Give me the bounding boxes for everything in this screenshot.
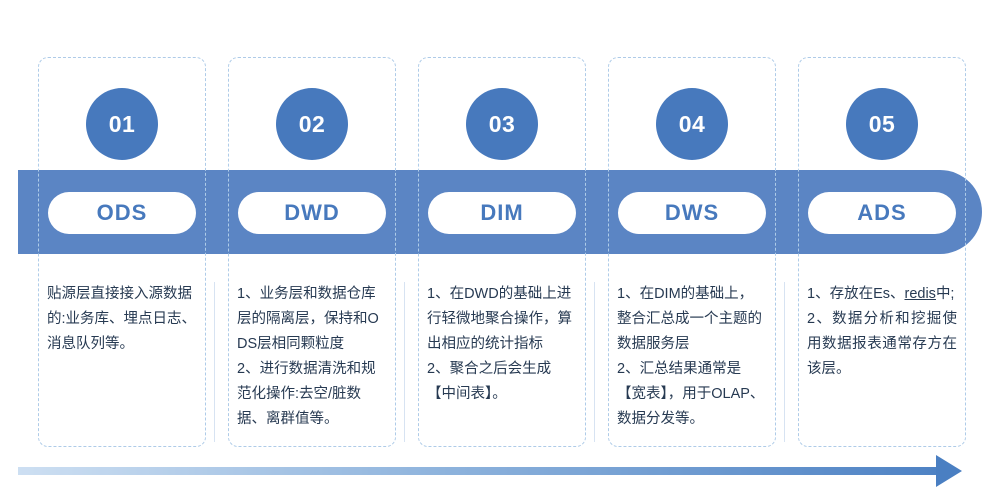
column-divider-2 xyxy=(404,282,405,442)
stage-number-5: 05 xyxy=(846,88,918,160)
flow-arrow-shaft xyxy=(18,467,938,475)
stage-label-dwd[interactable]: DWD xyxy=(238,192,386,234)
stage-label-dim[interactable]: DIM xyxy=(428,192,576,234)
stage-number-3: 03 xyxy=(466,88,538,160)
stage-description-1: 贴源层直接接入源数据的:业务库、埋点日志、消息队列等。 xyxy=(47,282,197,357)
stage-number-1: 01 xyxy=(86,88,158,160)
stage-label-dws[interactable]: DWS xyxy=(618,192,766,234)
column-divider-1 xyxy=(214,282,215,442)
stage-description-5-part-a: 1、存放在Es、 xyxy=(807,286,905,302)
diagram-canvas: 01 02 03 04 05 ODS DWD DIM DWS ADS 贴源层直接… xyxy=(0,0,1000,487)
stage-description-5: 1、存放在Es、redis中; 2、数据分析和挖掘使用数据报表通常存方在该层。 xyxy=(807,282,957,382)
stage-description-3: 1、在DWD的基础上进行轻微地聚合操作，算出相应的统计指标 2、聚合之后会生成【… xyxy=(427,282,577,407)
column-divider-3 xyxy=(594,282,595,442)
stage-label-ods[interactable]: ODS xyxy=(48,192,196,234)
stage-label-ads[interactable]: ADS xyxy=(808,192,956,234)
stage-description-2: 1、业务层和数据仓库层的隔离层，保持和ODS层相同颗粒度 2、进行数据清洗和规范… xyxy=(237,282,387,432)
column-divider-4 xyxy=(784,282,785,442)
stage-description-4: 1、在DIM的基础上，整合汇总成一个主题的数据服务层 2、汇总结果通常是【宽表】… xyxy=(617,282,767,432)
stage-number-2: 02 xyxy=(276,88,348,160)
flow-arrow-head-icon xyxy=(936,455,962,487)
stage-number-4: 04 xyxy=(656,88,728,160)
stage-description-5-link: redis xyxy=(905,286,936,302)
